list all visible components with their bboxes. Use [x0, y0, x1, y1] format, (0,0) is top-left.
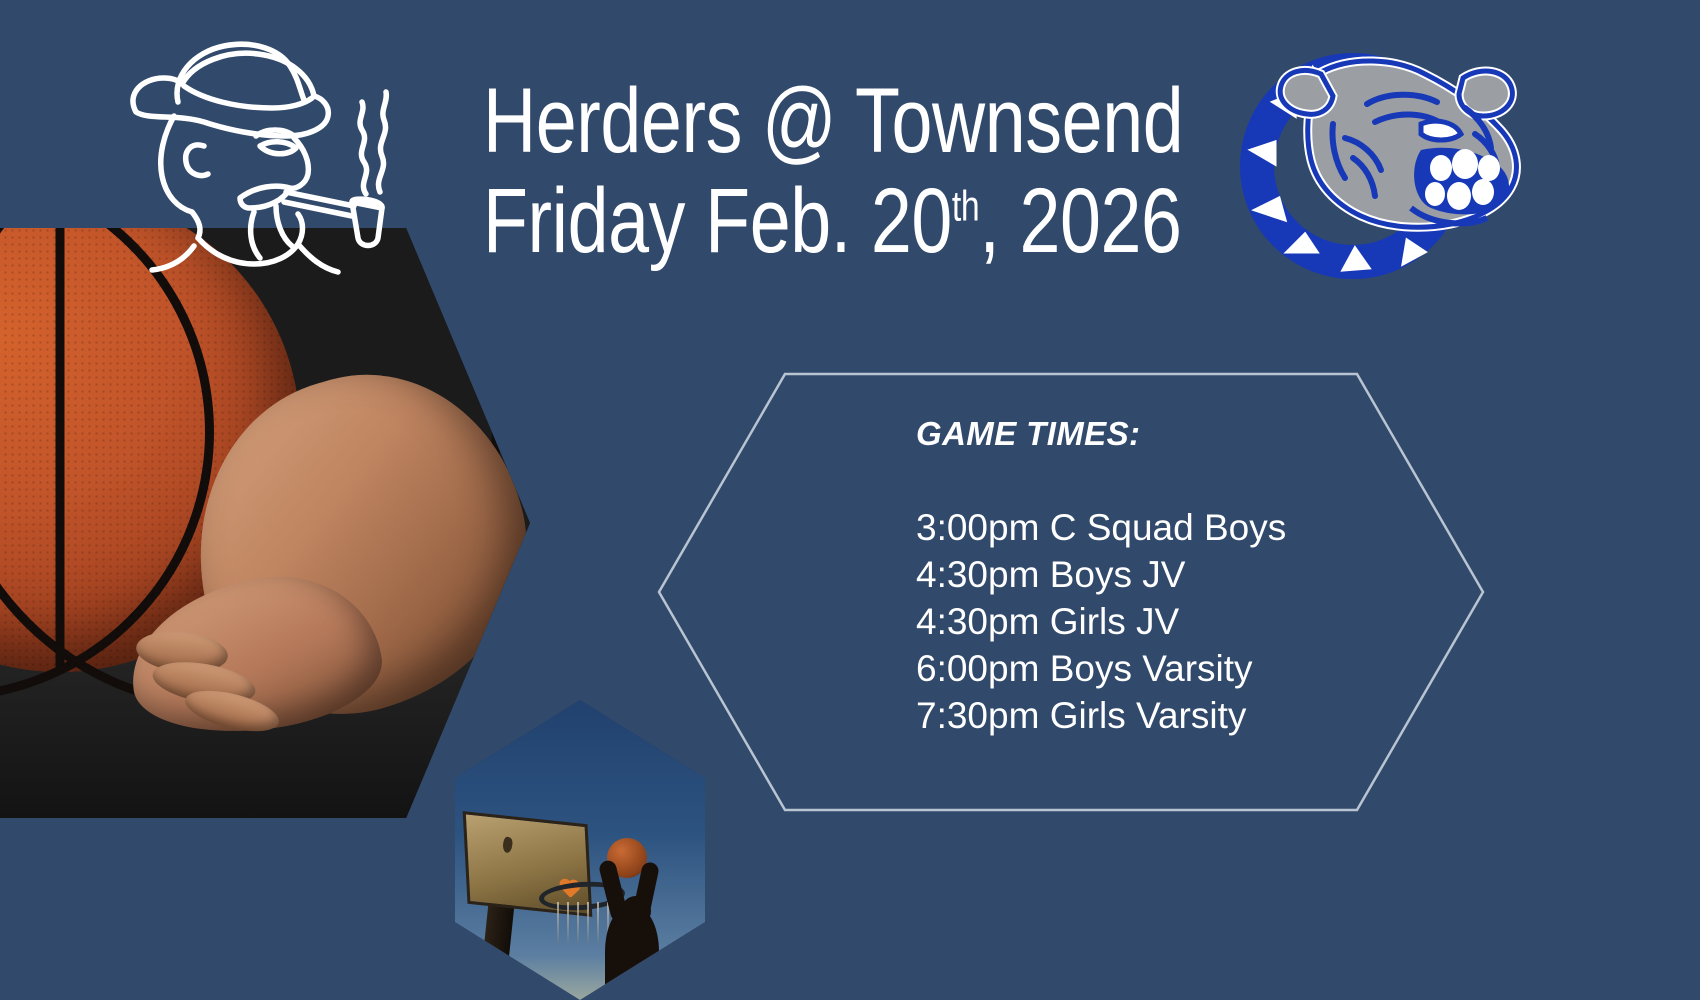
date-ordinal: th [952, 182, 979, 229]
date-suffix: , 2026 [979, 170, 1181, 272]
hoop-net [555, 902, 611, 944]
ball-seam-vertical [56, 228, 65, 672]
backboard-mark [502, 836, 513, 854]
list-item: 6:00pm Boys Varsity [916, 646, 1440, 693]
photo-scene [0, 228, 530, 818]
townsend-bulldog-icon [1225, 38, 1525, 288]
list-item: 7:30pm Girls Varsity [916, 693, 1440, 740]
shooter-body [605, 908, 659, 1000]
event-poster: Herders @ Townsend Friday Feb. 20th, 202… [0, 0, 1700, 1000]
page-title: Herders @ Townsend Friday Feb. 20th, 202… [400, 75, 1230, 269]
basketball-photo [0, 228, 530, 818]
game-times-block: GAME TIMES: 3:00pm C Squad Boys 4:30pm B… [880, 415, 1440, 740]
list-item: 3:00pm C Squad Boys [916, 505, 1440, 552]
title-line-matchup: Herders @ Townsend [483, 75, 1147, 169]
game-times-list: 3:00pm C Squad Boys 4:30pm Boys JV 4:30p… [880, 505, 1440, 740]
title-line-date: Friday Feb. 20th, 2026 [483, 175, 1147, 269]
list-item: 4:30pm Girls JV [916, 599, 1440, 646]
herders-cowboy-icon [108, 16, 398, 306]
date-prefix: Friday Feb. 20 [483, 170, 952, 272]
game-times-heading: GAME TIMES: [916, 415, 1440, 453]
list-item: 4:30pm Boys JV [916, 552, 1440, 599]
